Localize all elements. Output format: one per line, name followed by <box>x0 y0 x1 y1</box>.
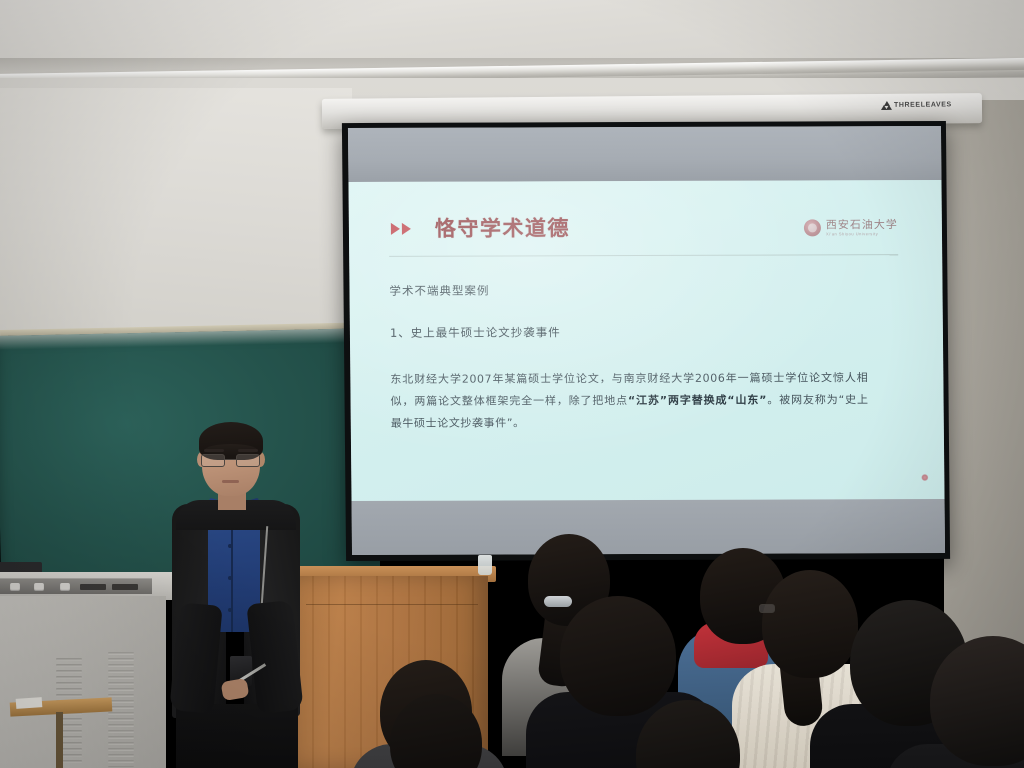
university-name-cn: 西安石油大学 <box>826 219 898 230</box>
glasses-icon <box>759 604 775 613</box>
presenter-shirt-button <box>228 576 232 580</box>
university-logo: 西安石油大学 Xi'an Shiyou University <box>804 219 898 236</box>
audience-member <box>636 700 826 768</box>
three-diamond-logo-icon <box>882 101 891 109</box>
projection-screen-surface: 恪守学术道德 西安石油大学 Xi'an Shiyou University 学术… <box>348 126 945 555</box>
presenter-mouth <box>222 480 239 483</box>
double-chevron-right-icon <box>389 221 419 237</box>
presenter-lower-body <box>176 704 298 768</box>
lecture-hall-photo: THREELEAVES 恪守学术道德 <box>0 0 1024 768</box>
glasses-icon <box>200 454 262 467</box>
presenter-shirt-button <box>228 544 232 548</box>
rack-knob[interactable] <box>60 583 70 591</box>
university-seal-icon <box>804 219 821 236</box>
rack-knob[interactable] <box>34 583 44 591</box>
presentation-slide: 恪守学术道德 西安石油大学 Xi'an Shiyou University 学术… <box>348 180 944 501</box>
rack-knob[interactable] <box>10 583 20 591</box>
slide-body-paragraph: 东北财经大学2007年某篇硕士学位论文，与南京财经大学2006年一篇硕士学位论文… <box>390 367 869 435</box>
equipment-rack <box>0 578 152 594</box>
rack-slot <box>80 584 106 590</box>
projection-screen: 恪守学术道德 西安石油大学 Xi'an Shiyou University 学术… <box>342 121 950 561</box>
slide-laser-dot <box>921 474 928 481</box>
slide-body-item-1: 1、史上最牛硕士论文抄袭事件 <box>390 323 899 341</box>
desk-leg <box>56 712 63 768</box>
slide-title-row: 恪守学术道德 西安石油大学 Xi'an Shiyou University <box>389 208 898 248</box>
left-wall-upper <box>0 88 352 333</box>
presenter <box>160 404 310 768</box>
screen-brand-label: THREELEAVES <box>882 100 952 109</box>
audience-member <box>930 636 1024 768</box>
desk-paper <box>16 697 43 709</box>
presenter-shirt-placket <box>231 514 233 632</box>
university-name-en: Xi'an Shiyou University <box>826 232 898 236</box>
water-cup <box>478 555 492 575</box>
rack-slot <box>112 584 138 590</box>
screen-brand-text: THREELEAVES <box>894 101 952 109</box>
presenter-eyebrow-left <box>204 449 224 452</box>
presenter-shirt-button <box>228 608 232 612</box>
presenter-eyebrow-right <box>238 449 258 452</box>
slide-title: 恪守学术道德 <box>435 218 570 239</box>
slide-body: 学术不端典型案例 1、史上最牛硕士论文抄袭事件 东北财经大学2007年某篇硕士学… <box>389 255 900 435</box>
presenter-arm-left <box>169 602 222 713</box>
slide-body-heading: 学术不端典型案例 <box>389 281 898 299</box>
letterbox-band-top <box>348 126 942 182</box>
audience-member <box>390 694 540 768</box>
equipment-cabinet <box>0 596 166 768</box>
